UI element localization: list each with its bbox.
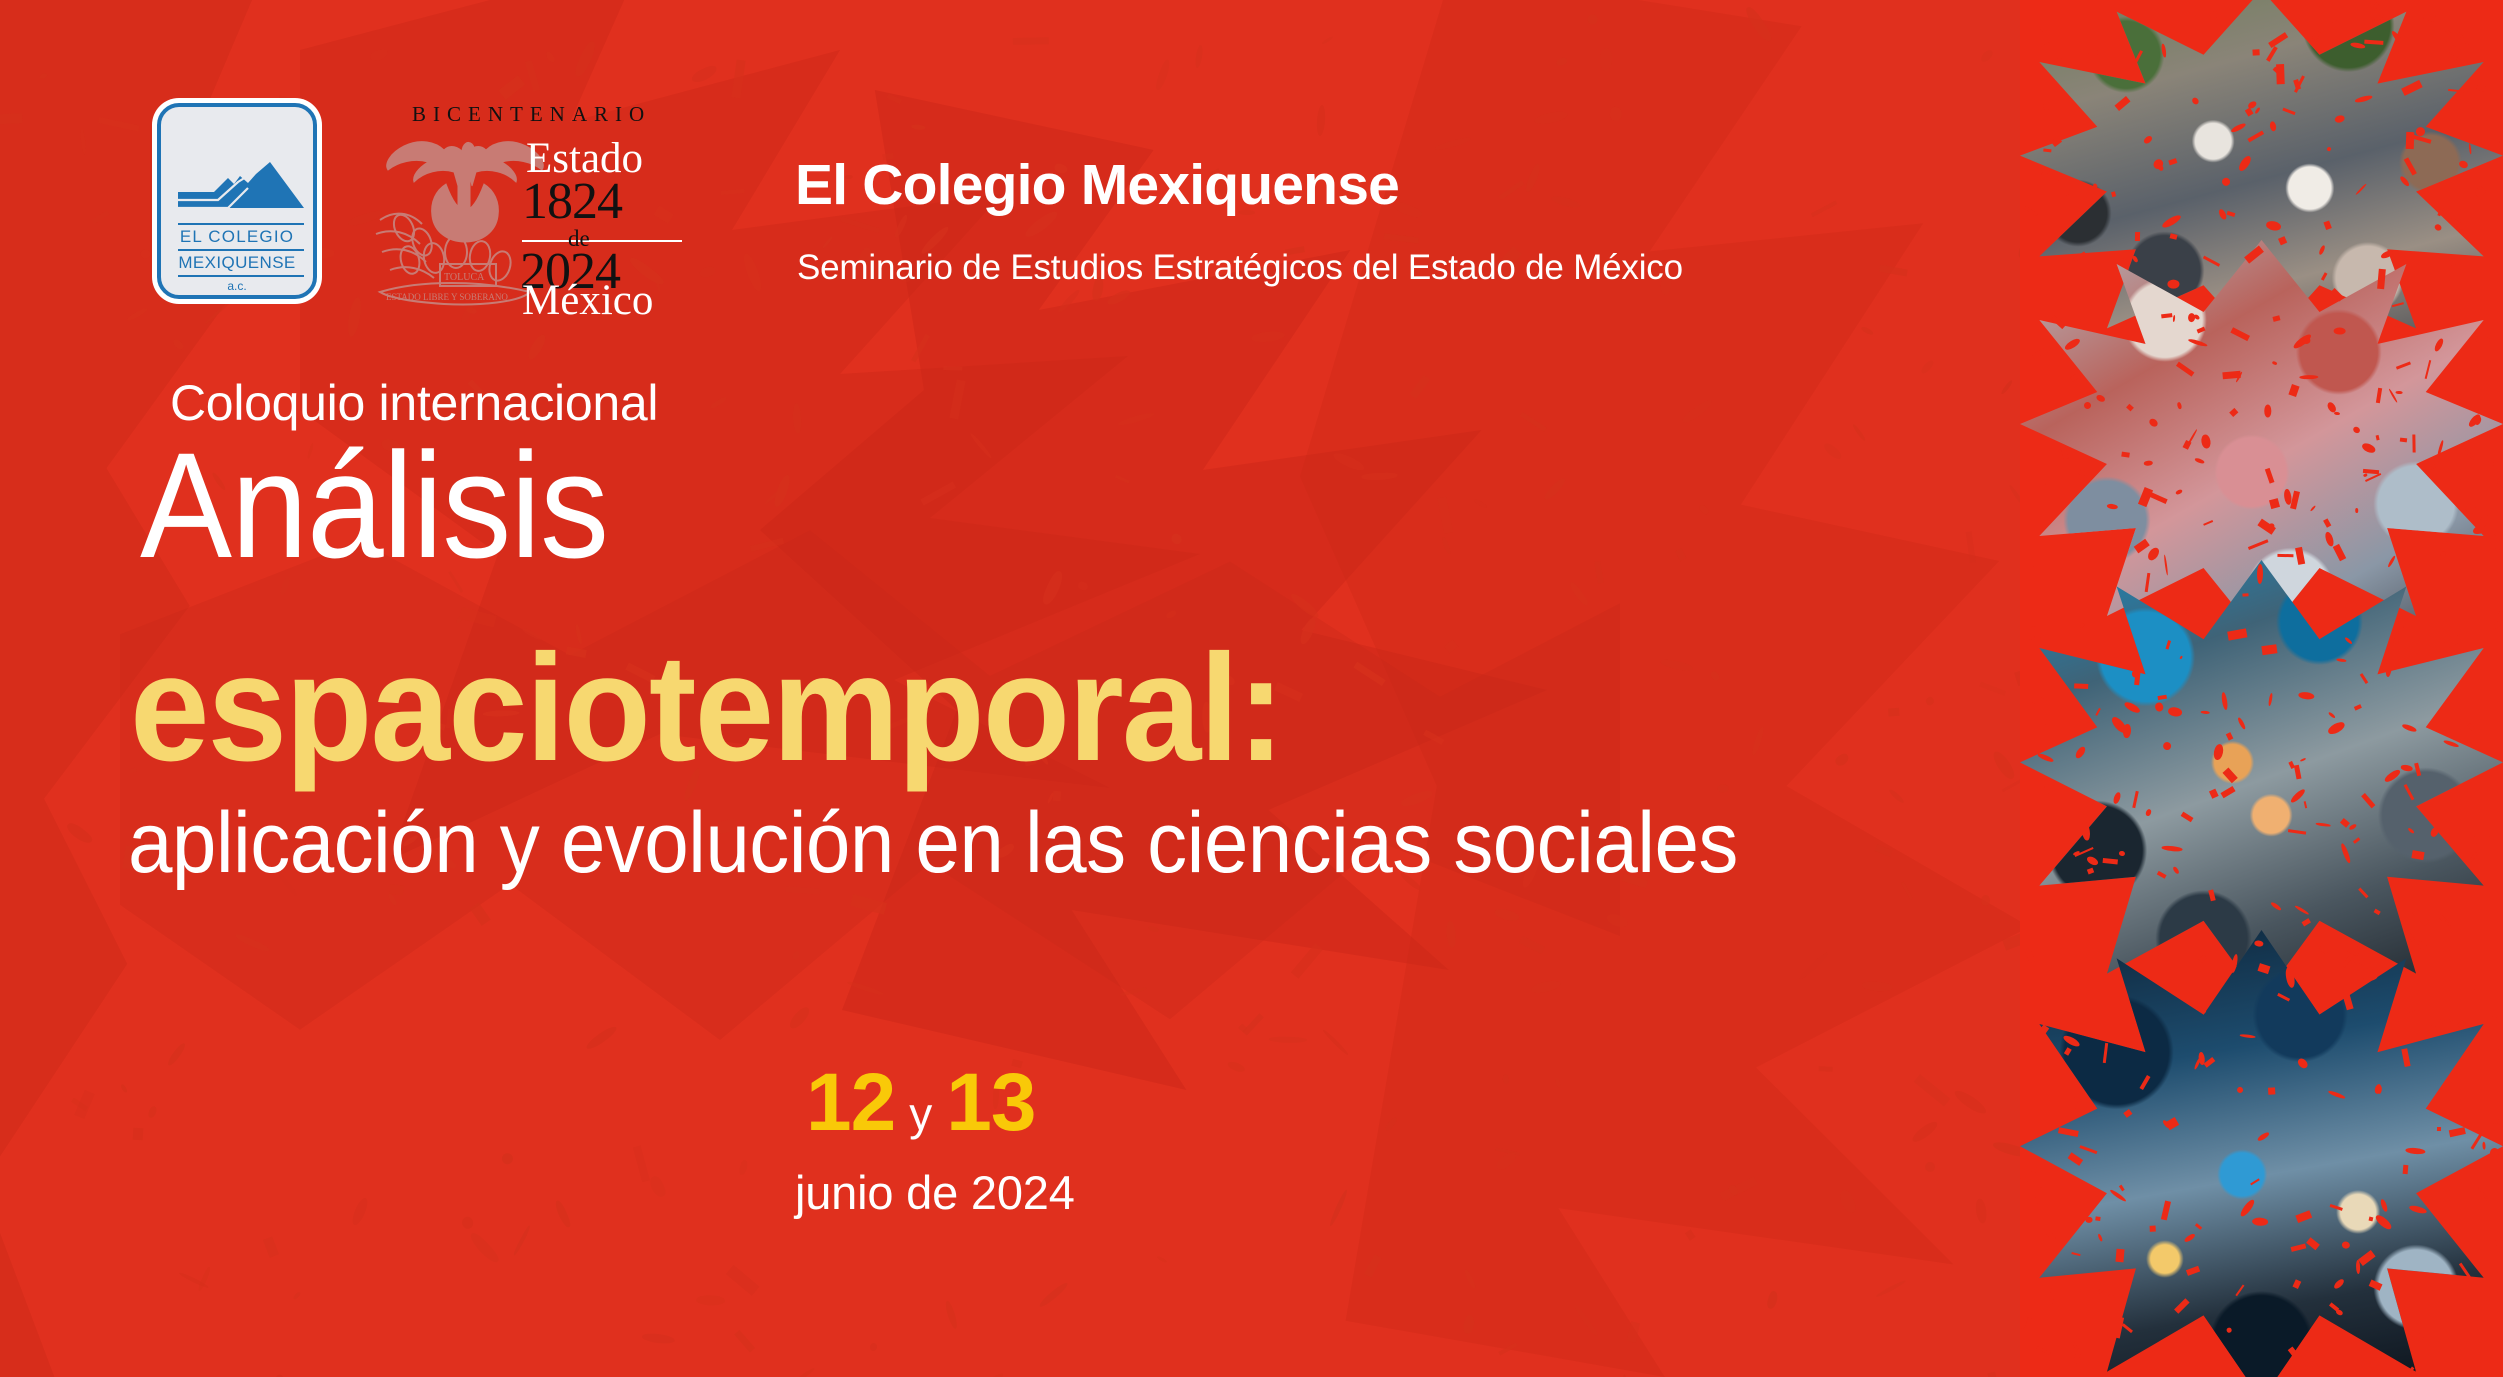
logo-line-1: EL COLEGIO	[161, 227, 313, 247]
date-day-second: 13	[946, 1057, 1035, 1148]
photo-collage-strip	[2020, 0, 2503, 1377]
el-colegio-mexiquense-logo: EL COLEGIO MEXIQUENSE a.c.	[157, 103, 317, 299]
bicentenario-emblem: BICENTENARIO	[370, 100, 680, 315]
institution-subtitle: Seminario de Estudios Estratégicos del E…	[797, 248, 1683, 288]
emblem-mexico: México	[522, 276, 653, 325]
poster-root: EL COLEGIO MEXIQUENSE a.c. BICENTENARIO	[0, 0, 2503, 1377]
institution-name: El Colegio Mexiquense	[795, 152, 1399, 218]
logo-line-3: a.c.	[161, 279, 313, 293]
date-day-first: 12	[806, 1057, 895, 1148]
logo-line-2: MEXIQUENSE	[161, 253, 313, 273]
date-conjunction: y	[895, 1088, 946, 1140]
event-title-line-1: Análisis	[140, 430, 608, 580]
event-month-year: junio de 2024	[795, 1165, 1075, 1220]
event-title-line-3: aplicación y evolución en las ciencias s…	[128, 800, 1738, 886]
event-title-line-2: espaciotemporal:	[130, 632, 1283, 784]
emblem-year-from: 1824	[522, 172, 622, 231]
svg-text:TOLUCA: TOLUCA	[444, 272, 485, 283]
mountain-icon	[178, 162, 304, 220]
svg-text:ESTADO LIBRE Y SOBERANO: ESTADO LIBRE Y SOBERANO	[386, 292, 508, 302]
event-date-days: 12y13	[806, 1056, 1035, 1150]
